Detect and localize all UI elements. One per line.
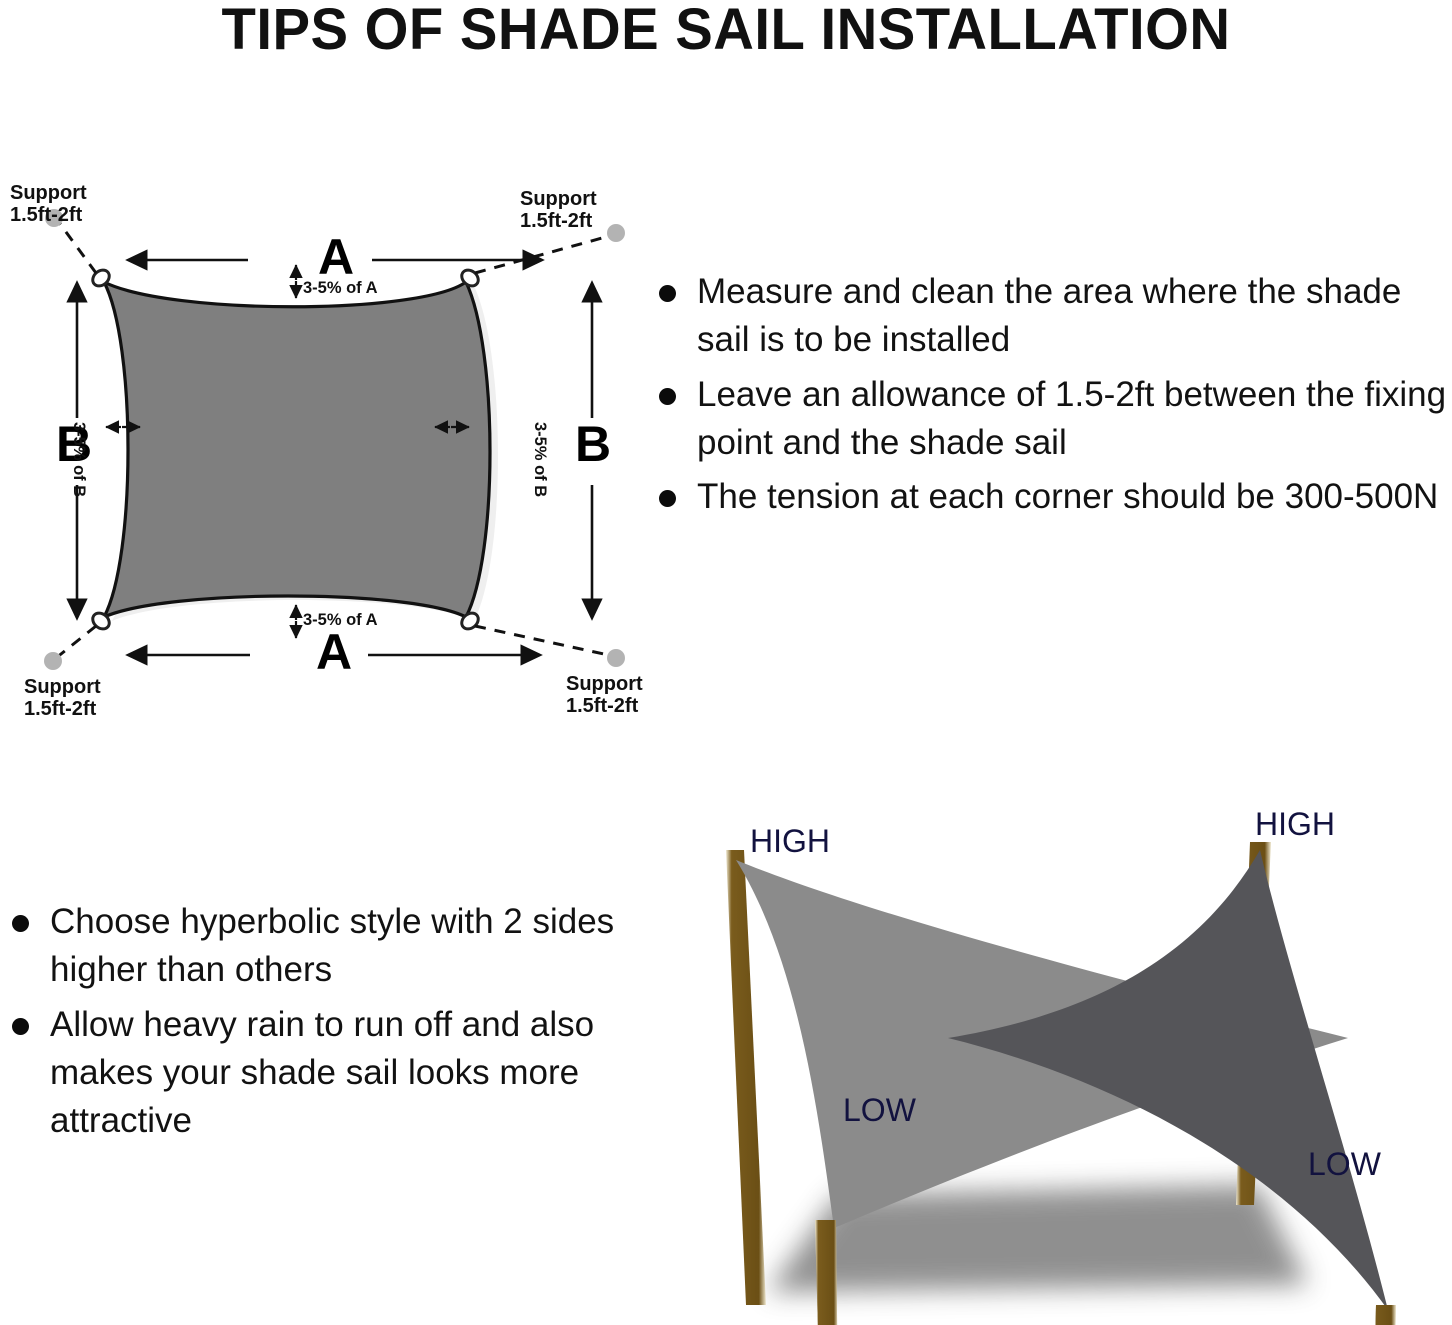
hyperbolic-sail-diagram	[648, 780, 1452, 1325]
support-line-top-right	[475, 235, 613, 273]
support-label-line2: 1.5ft-2ft	[566, 695, 638, 717]
list-item-text: Choose hyperbolic style with 2 sides hig…	[50, 902, 614, 989]
support-label-line1: Support	[520, 188, 597, 210]
dim-label-a-bottom: A	[316, 627, 352, 677]
label-low-right: LOW	[1308, 1146, 1381, 1183]
list-item-text: Allow heavy rain to run off and also mak…	[50, 1005, 594, 1141]
dim-label-a-top: A	[318, 232, 354, 282]
support-label-bottom-left: Support 1.5ft-2ft	[24, 676, 144, 721]
pole-low-left-front	[815, 1220, 838, 1325]
support-label-bottom-right: Support 1.5ft-2ft	[566, 673, 696, 718]
support-line-bottom-right	[475, 626, 613, 656]
list-item: Choose hyperbolic style with 2 sides hig…	[8, 898, 633, 995]
installation-tips-list: Measure and clean the area where the sha…	[655, 268, 1452, 527]
curve-note-left: 3-5% of B	[69, 422, 88, 497]
support-label-line2: 1.5ft-2ft	[24, 698, 96, 720]
label-high-left: HIGH	[750, 823, 830, 860]
list-item: Leave an allowance of 1.5-2ft between th…	[655, 371, 1452, 468]
pole-low-right-front	[1370, 1305, 1396, 1325]
list-item: Measure and clean the area where the sha…	[655, 268, 1452, 365]
curve-note-bottom: 3-5% of A	[303, 611, 378, 630]
list-item: The tension at each corner should be 300…	[655, 473, 1452, 521]
curve-note-right: 3-5% of B	[530, 422, 549, 497]
support-label-top-left: Support 1.5ft-2ft	[10, 182, 120, 227]
bullet-dot-icon	[659, 490, 676, 507]
support-label-line2: 1.5ft-2ft	[10, 204, 82, 226]
support-label-line1: Support	[566, 673, 643, 695]
bullet-dot-icon	[659, 388, 676, 405]
support-label-line1: Support	[24, 676, 101, 698]
label-low-left: LOW	[843, 1092, 916, 1129]
bullet-dot-icon	[12, 1018, 29, 1035]
dim-label-b-right: B	[575, 419, 611, 469]
bullet-dot-icon	[12, 915, 29, 932]
list-item-text: The tension at each corner should be 300…	[697, 477, 1438, 516]
hyperbolic-style-tips-list: Choose hyperbolic style with 2 sides hig…	[8, 898, 633, 1151]
bullet-dot-icon	[659, 285, 676, 302]
infographic-page: TIPS OF SHADE SAIL INSTALLATION	[0, 0, 1452, 1325]
list-item-text: Measure and clean the area where the sha…	[697, 272, 1401, 359]
list-item: Allow heavy rain to run off and also mak…	[8, 1001, 633, 1146]
support-line-top-left	[58, 221, 96, 273]
support-line-bottom-left	[56, 626, 96, 658]
list-item-text: Leave an allowance of 1.5-2ft between th…	[697, 375, 1446, 462]
label-high-right: HIGH	[1255, 806, 1335, 843]
support-dot-bottom-left	[44, 652, 62, 670]
page-title: TIPS OF SHADE SAIL INSTALLATION	[22, 0, 1430, 63]
support-label-top-right: Support 1.5ft-2ft	[520, 188, 650, 233]
sail-shape	[104, 282, 490, 617]
support-dot-bottom-right	[607, 649, 625, 667]
curve-note-top: 3-5% of A	[303, 279, 378, 298]
support-label-line2: 1.5ft-2ft	[520, 210, 592, 232]
support-label-line1: Support	[10, 182, 87, 204]
